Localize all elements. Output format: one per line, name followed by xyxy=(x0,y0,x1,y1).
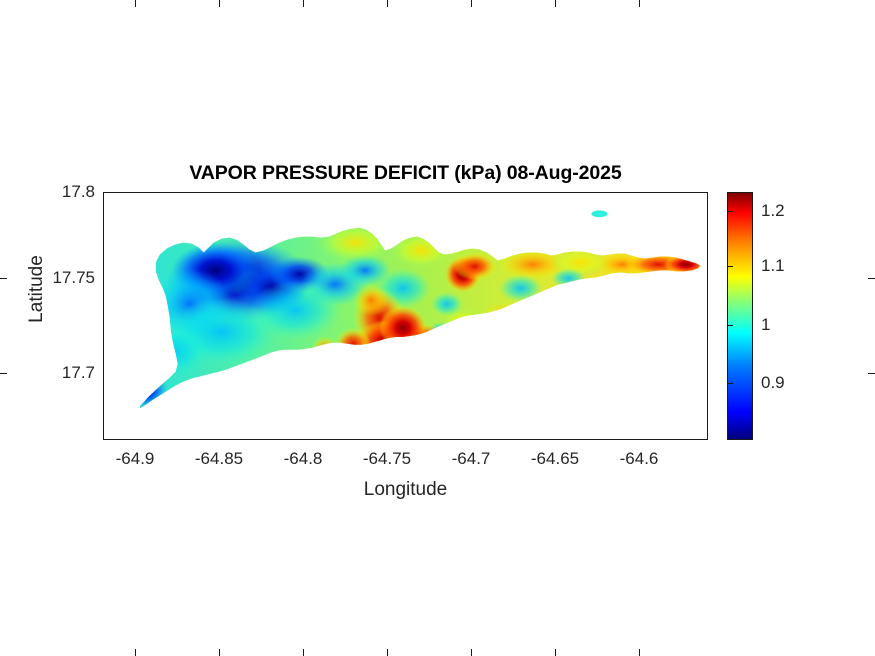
colorbar-tick-1 xyxy=(727,325,733,326)
xtick-0 xyxy=(135,649,136,656)
buck-island-patch xyxy=(591,210,607,217)
colorbar-label-1-2: 1.2 xyxy=(761,201,785,221)
xtick-top-3 xyxy=(387,0,388,7)
xtick-top-5 xyxy=(555,0,556,7)
xtick-3 xyxy=(387,649,388,656)
xtick-1 xyxy=(219,649,220,656)
xtick-top-1 xyxy=(219,0,220,7)
ytick-17-7 xyxy=(0,373,7,374)
ytick-right-17-75 xyxy=(868,278,875,279)
ytick-right-17-7 xyxy=(868,373,875,374)
vpd-heatmap xyxy=(104,193,707,439)
ytick-17-75 xyxy=(0,278,7,279)
colorbar-label-0-9: 0.9 xyxy=(761,373,785,393)
x-axis-label: Longitude xyxy=(103,479,708,501)
yticklabel-17-8: 17.8 xyxy=(19,182,95,202)
xtick-5 xyxy=(555,649,556,656)
xticklabel-2: -64.8 xyxy=(284,449,323,469)
colorbar[interactable] xyxy=(727,192,753,440)
xtick-top-6 xyxy=(639,0,640,7)
xticklabel-0: -64.9 xyxy=(116,449,155,469)
island-color-field xyxy=(104,193,707,439)
xtick-top-2 xyxy=(303,0,304,7)
colorbar-tick-1-2 xyxy=(727,211,733,212)
xtick-6 xyxy=(639,649,640,656)
figure-canvas: VAPOR PRESSURE DEFICIT (kPa) 08-Aug-2025 xyxy=(0,0,875,656)
xticklabel-5: -64.65 xyxy=(531,449,579,469)
colorbar-tick-1-1 xyxy=(727,266,733,267)
y-axis-label: Latitude xyxy=(26,209,48,369)
colorbar-label-1-1: 1.1 xyxy=(761,256,785,276)
xtick-2 xyxy=(303,649,304,656)
colorbar-label-1: 1 xyxy=(761,315,770,335)
page-title: VAPOR PRESSURE DEFICIT (kPa) 08-Aug-2025 xyxy=(103,162,708,185)
xtick-top-0 xyxy=(135,0,136,7)
colorbar-tick-0-9 xyxy=(727,383,733,384)
map-axes[interactable] xyxy=(103,192,708,440)
xtick-4 xyxy=(471,649,472,656)
xticklabel-6: -64.6 xyxy=(620,449,659,469)
xticklabel-3: -64.75 xyxy=(363,449,411,469)
xticklabel-1: -64.85 xyxy=(195,449,243,469)
xticklabel-4: -64.7 xyxy=(452,449,491,469)
xtick-top-4 xyxy=(471,0,472,7)
